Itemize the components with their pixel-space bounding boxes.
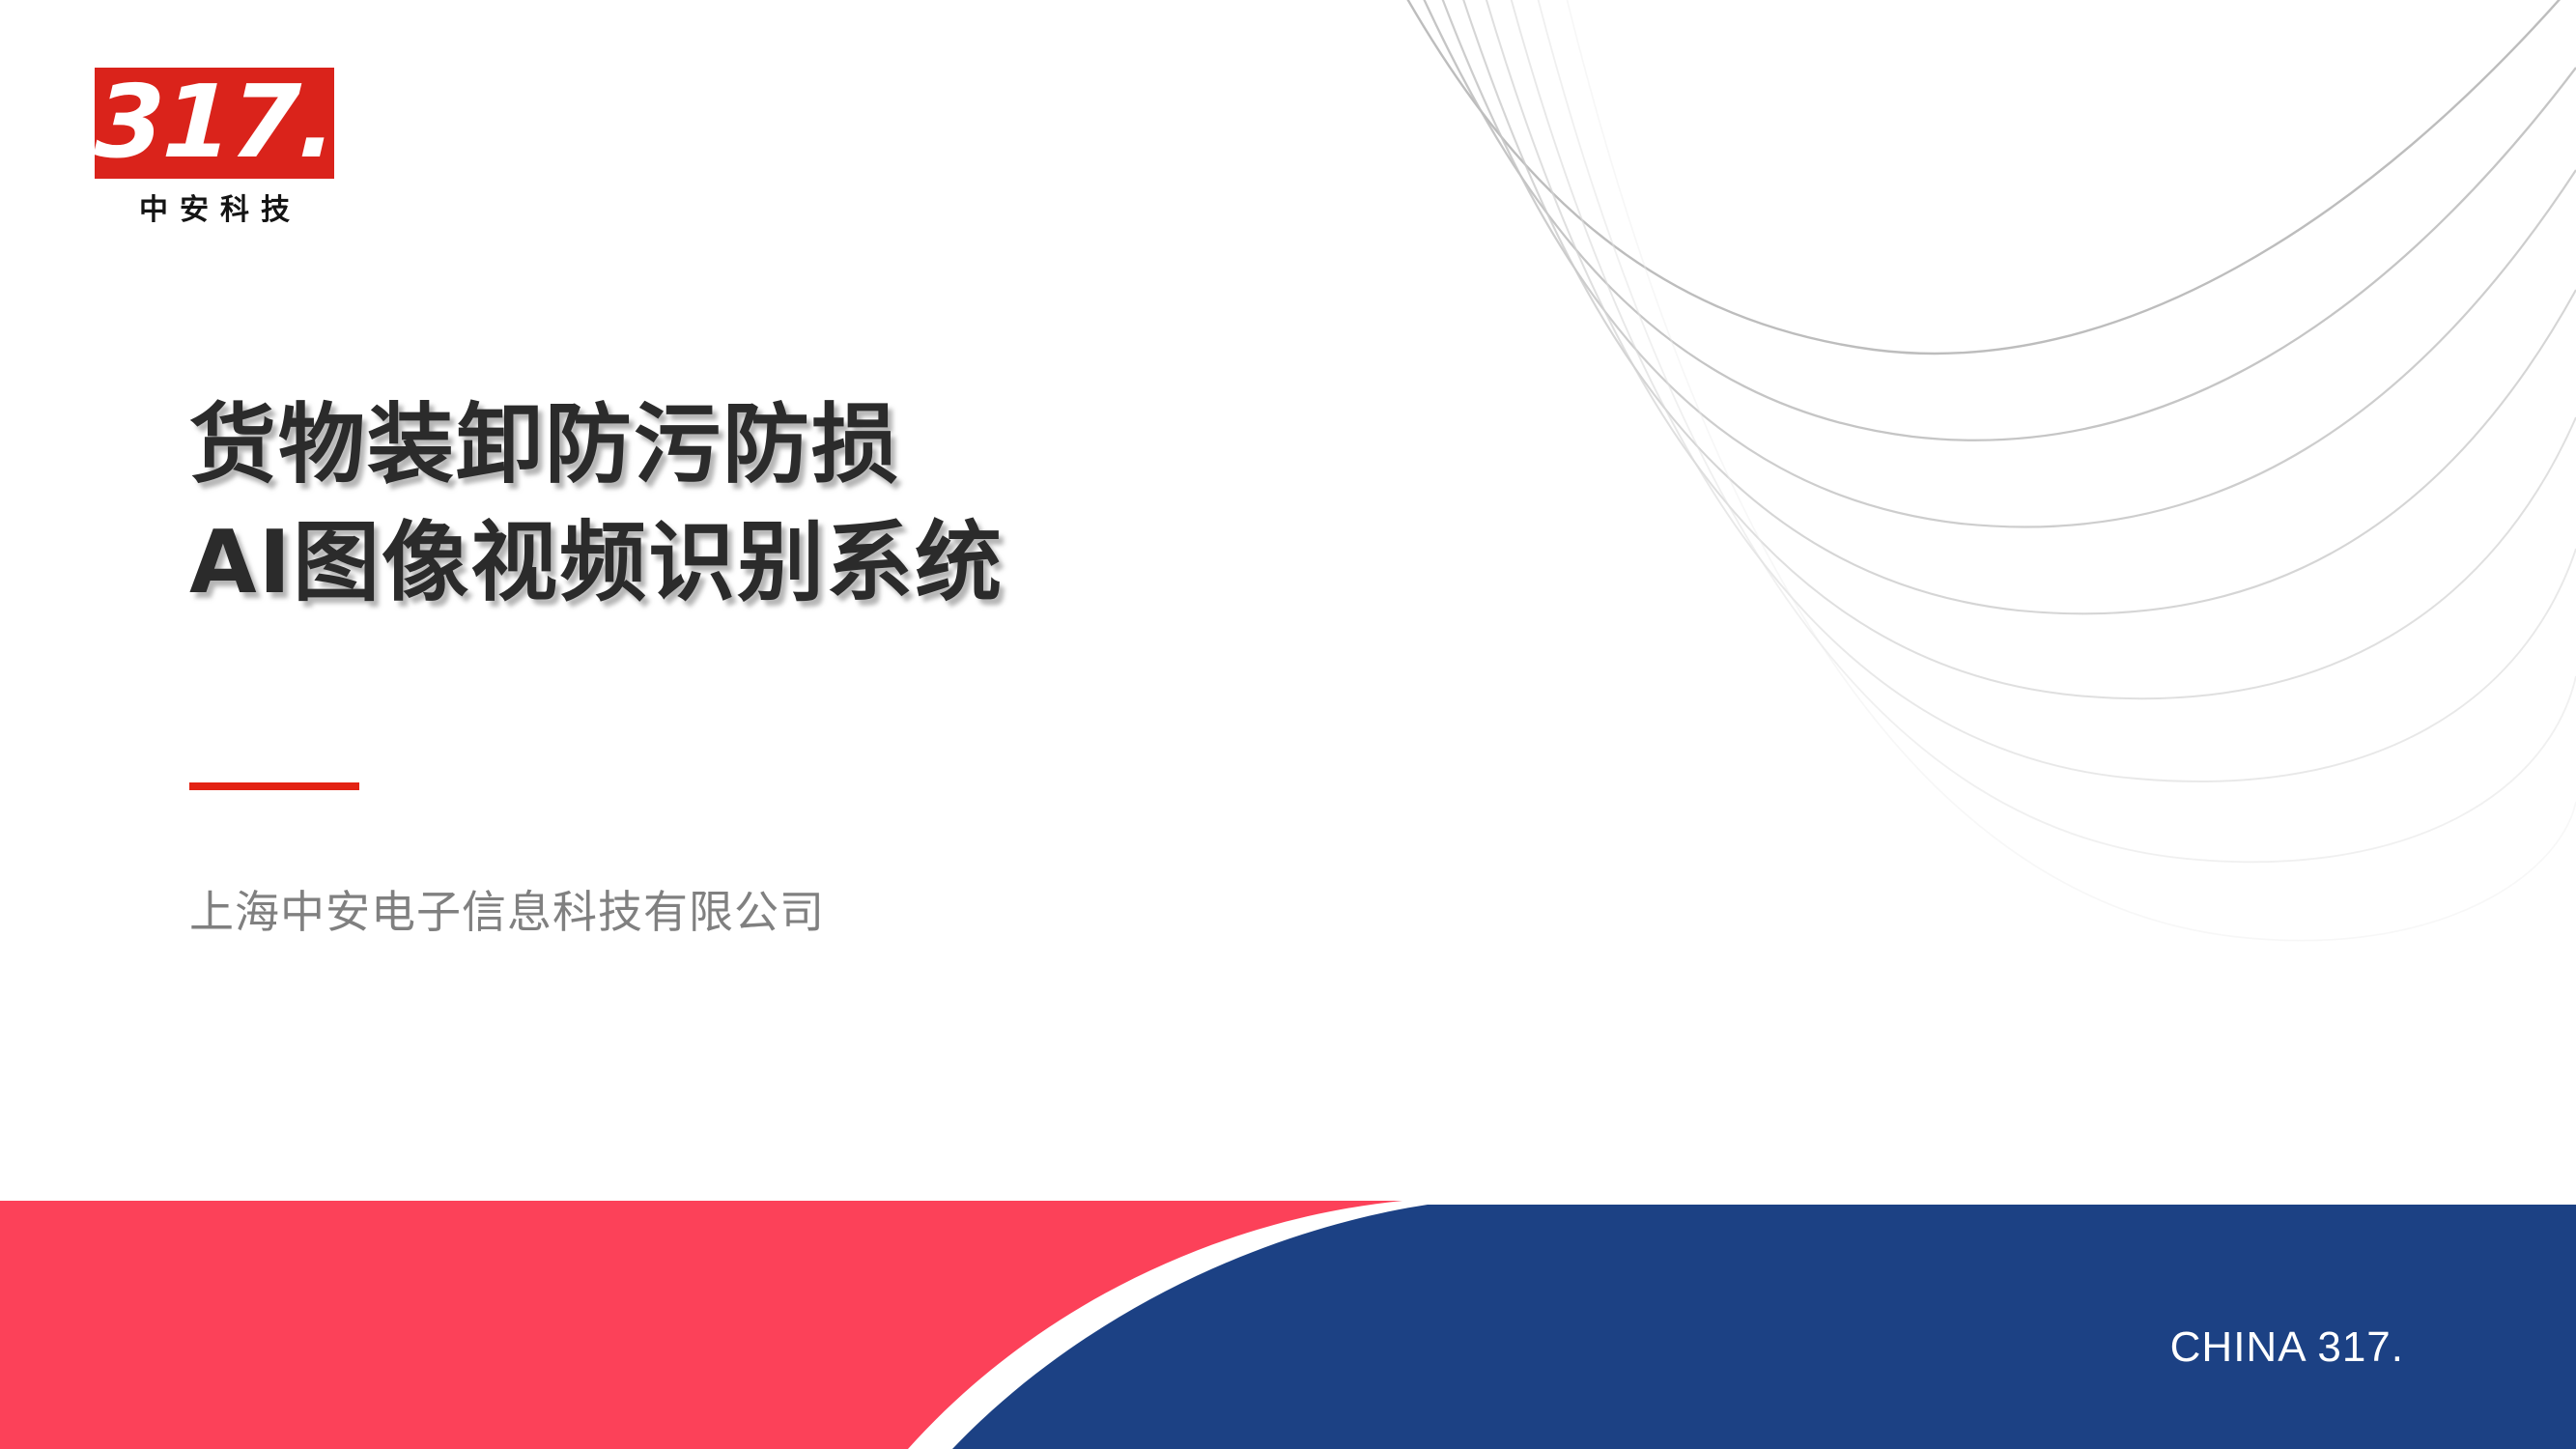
- company-logo: 317. 中安科技: [95, 68, 346, 227]
- company-name-subtitle: 上海中安电子信息科技有限公司: [189, 884, 825, 940]
- logo-badge-text: 317.: [95, 71, 334, 176]
- title-line-2: AI图像视频识别系统: [189, 504, 1542, 622]
- logo-badge: 317.: [95, 68, 334, 179]
- title-line-1: 货物装卸防污防损: [189, 386, 1542, 504]
- slide-canvas: 317. 中安科技 货物装卸防污防损 AI图像视频识别系统 上海中安电子信息科技…: [0, 0, 2576, 1449]
- title-divider-rule: [189, 782, 359, 790]
- page-title: 货物装卸防污防损 AI图像视频识别系统: [189, 386, 1542, 622]
- footer-brand-label: CHINA 317.: [2170, 1324, 2404, 1371]
- logo-subtext: 中安科技: [95, 194, 334, 227]
